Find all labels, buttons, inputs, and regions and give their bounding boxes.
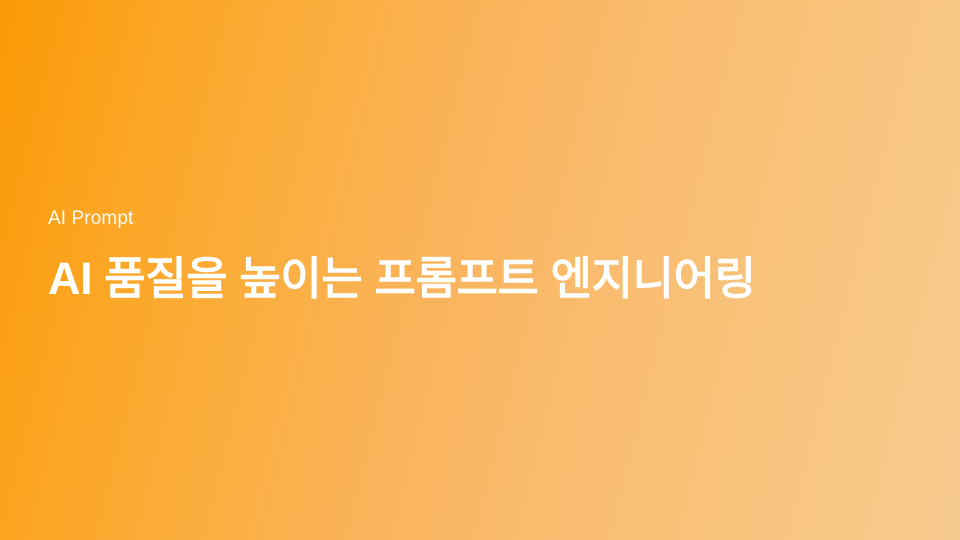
slide-headline: AI 품질을 높이는 프롬프트 엔지니어링 bbox=[48, 251, 928, 307]
slide-eyebrow-label: AI Prompt bbox=[48, 206, 928, 232]
title-slide: AI Prompt AI 품질을 높이는 프롬프트 엔지니어링 bbox=[0, 0, 960, 540]
slide-text-block: AI Prompt AI 품질을 높이는 프롬프트 엔지니어링 bbox=[48, 206, 928, 307]
